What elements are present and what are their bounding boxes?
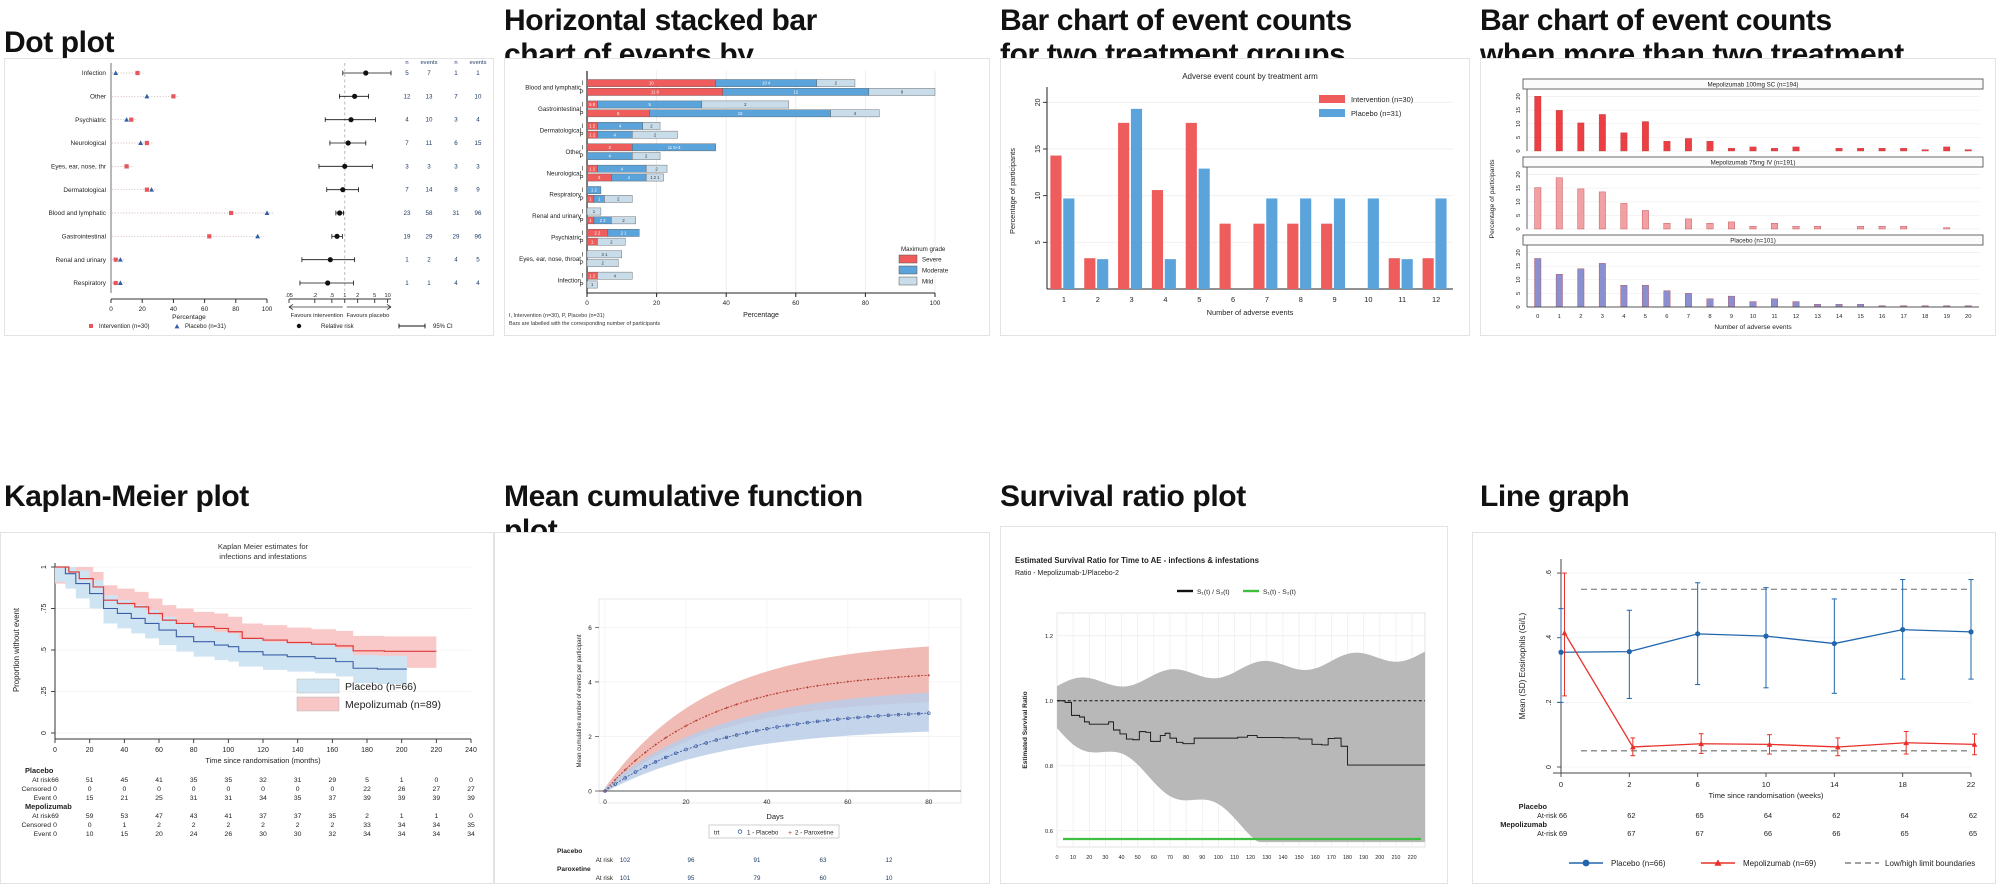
km-legend-swatch [297, 679, 339, 693]
km-risk-cell: 34 [259, 795, 267, 802]
km-risk-cell: 31 [225, 795, 233, 802]
bar3-x-tick-label: 17 [1900, 314, 1906, 320]
dot-table-cell: 4 [454, 280, 458, 287]
stacked-arm-label: I [582, 252, 584, 258]
stacked-arm-label: P [579, 176, 583, 182]
mcf-legend-prefix: trt [714, 829, 720, 836]
dot-table-cell: 12 [404, 93, 411, 100]
dot-legend-swatch-intervention [89, 324, 93, 328]
bar2-chart-title: Adverse event count by treatment arm [1182, 72, 1318, 81]
bar3-bar [1664, 291, 1670, 307]
dot-table-cell: 7 [405, 187, 409, 194]
stacked-arm-label: I [582, 167, 584, 173]
bar3-bar [1578, 123, 1584, 151]
km-x-tick-label: 40 [120, 747, 128, 754]
dot-table-cell: 3 [405, 163, 409, 170]
bar2-bar-placebo [1402, 259, 1413, 289]
km-risk-cell: 0 [261, 786, 265, 793]
stacked-bar-count-label: 1 2 [591, 188, 597, 193]
line-risk-cell: 64 [1901, 811, 1909, 820]
line-risk-cell: 64 [1764, 811, 1772, 820]
bar3-bar [1965, 150, 1971, 151]
bar3-y-tick-label: 5 [1516, 136, 1522, 139]
km-risk-cell: 30 [259, 831, 267, 838]
sr-x-tick-label: 110 [1230, 855, 1239, 861]
km-risk-cell: 39 [363, 795, 371, 802]
sr-x-tick-label: 150 [1295, 855, 1304, 861]
mcf-risk-row-label: At risk [596, 857, 614, 864]
line-risk-cell: 67 [1627, 829, 1635, 838]
dot-legend-label-placebo: Placebo (n=31) [185, 324, 226, 330]
line-y-axis-title: Mean (SD) Eosinophils (Gi/L) [1518, 612, 1527, 719]
stacked-arm-label: P [579, 283, 583, 289]
bar3-y-tick-label: 20 [1516, 171, 1522, 177]
dot-table-cell: 3 [476, 163, 480, 170]
km-risk-cell: 32 [329, 831, 337, 838]
km-risk-cell: 39 [467, 795, 475, 802]
bar2-bar-intervention [1152, 190, 1163, 289]
dot-table-cell: 29 [426, 233, 433, 240]
stacked-category-label: Gastrointestinal [538, 106, 581, 113]
bar3-y-tick-label: 15 [1516, 107, 1522, 113]
sr-legend-label-difference: S₁(t) - S₂(t) [1263, 589, 1296, 596]
sr-x-tick-label: 40 [1119, 855, 1125, 861]
line-y-tick-label: 0 [1546, 765, 1553, 769]
bar3-bar [1685, 219, 1691, 229]
bar2-bar-intervention [1389, 258, 1400, 289]
mcf-x-tick-label: 80 [925, 799, 933, 806]
line-y-tick-label: .2 [1546, 699, 1553, 705]
line-legend-marker-placebo [1583, 860, 1590, 867]
dot-table-subheader: n [454, 60, 457, 66]
bar2-bar-placebo [1300, 198, 1311, 289]
km-x-tick-label: 220 [430, 747, 442, 754]
sr-x-tick-label: 0 [1056, 855, 1059, 861]
sr-y-tick-label: 0.6 [1045, 829, 1053, 835]
line-risk-group-name: Mepolizumab [1500, 820, 1547, 829]
bar3-y-tick-label: 0 [1516, 149, 1522, 152]
bar3-y-tick-label: 20 [1516, 93, 1522, 99]
mcf-risk-cell: 79 [754, 875, 761, 882]
dot-table-cell: 1 [405, 280, 409, 287]
line-marker-mepolizumab [1562, 630, 1568, 635]
stacked-arm-label: I [582, 210, 584, 216]
dot-plot-card: InfectionOtherPsychiatricNeurologicalEye… [4, 58, 494, 336]
stacked-x-tick-label: 20 [653, 300, 661, 307]
dot-table-cell: 7 [454, 93, 458, 100]
bar3-bar [1750, 147, 1756, 151]
mcf-x-axis-title: Days [766, 812, 784, 821]
dot-table-cell: 7 [405, 140, 409, 147]
bar2-bar-placebo [1368, 198, 1379, 289]
bar3-bar [1685, 293, 1691, 307]
bar3-x-tick-label: 0 [1536, 314, 1539, 320]
km-risk-cell: 45 [121, 777, 129, 784]
mcf-y-axis-title: Mean cumulative number of events per par… [577, 634, 583, 767]
km-risk-row-label: Censored [22, 786, 52, 793]
sr-y-tick-label: 1.0 [1045, 699, 1053, 705]
stacked-legend-title: Maximum grade [901, 246, 946, 253]
sr-x-tick-label: 190 [1359, 855, 1368, 861]
km-risk-cell: 0 [88, 786, 92, 793]
dot-table-cell: 10 [475, 93, 482, 100]
bar3-y-tick-label: 5 [1516, 292, 1522, 295]
km-risk-cell: 24 [190, 831, 198, 838]
mcf-risk-cell: 91 [754, 857, 761, 864]
km-risk-cell: 43 [190, 813, 198, 820]
km-risk-cell: 41 [155, 777, 163, 784]
km-x-tick-label: 140 [292, 747, 304, 754]
km-risk-cell: 1 [122, 822, 126, 829]
stacked-bar-count-label: 5 8 [589, 102, 595, 107]
line-series-mepolizumab [1565, 633, 1975, 747]
bar3-strip-label: Placebo (n=101) [1730, 237, 1776, 244]
dot-plot-svg: InfectionOtherPsychiatricNeurologicalEye… [5, 59, 495, 337]
dot-table-cell: 3 [427, 163, 431, 170]
dot-marker-intervention [145, 188, 149, 192]
bar3-bar [1642, 122, 1648, 151]
bar3-x-tick-label: 4 [1622, 314, 1626, 320]
sr-x-tick-label: 50 [1135, 855, 1141, 861]
mcf-risk-group-name: Placebo [557, 848, 582, 855]
km-risk-group-name: Placebo [25, 766, 54, 775]
bar3-bar [1750, 226, 1756, 229]
bar3-y-tick-label: 10 [1516, 277, 1522, 283]
dot-table-cell: 9 [476, 187, 480, 194]
line-graph-svg: 0.2.4.602610141822Time since randomisati… [1473, 533, 1997, 885]
stacked-bar-count-label: 1 2 [589, 124, 595, 129]
dot-table-cell: 31 [453, 210, 460, 217]
stacked-bar-count-label: 3 1 [601, 252, 607, 257]
bar3-x-tick-label: 9 [1730, 314, 1733, 320]
bar3-y-tick-label: 10 [1516, 199, 1522, 205]
bar3-bar [1728, 148, 1734, 151]
km-x-tick-label: 80 [190, 747, 198, 754]
bar3-bar [1578, 269, 1584, 307]
bar3-bar [1621, 203, 1627, 229]
bar3-bar [1900, 226, 1906, 229]
dot-table-cell: 1 [476, 70, 480, 77]
dot-plot-x-tick-label: 40 [170, 306, 178, 313]
forest-point-estimate [363, 70, 368, 75]
bar3-bar [1814, 226, 1820, 229]
forest-point-estimate [337, 210, 342, 215]
km-x-tick-label: 100 [222, 747, 234, 754]
bar3-bar [1664, 223, 1670, 229]
stacked-bar-count-label: 1 2 1 [650, 175, 660, 180]
km-risk-cell: 10 [86, 831, 94, 838]
line-x-tick-label: 18 [1898, 780, 1906, 789]
dot-table-cell: 6 [454, 140, 458, 147]
mcf-risk-cell: 101 [620, 875, 631, 882]
km-risk-cell: 35 [225, 777, 233, 784]
stacked-x-tick-label: 40 [723, 300, 731, 307]
bar3-x-tick-label: 12 [1793, 314, 1799, 320]
bar2-bar-intervention [1321, 224, 1332, 289]
line-risk-cell: 65 [1901, 829, 1909, 838]
mcf-risk-cell: 12 [886, 857, 893, 864]
stacked-bar-count-label: 2 1 [621, 231, 627, 236]
bar2-bar-placebo [1165, 259, 1176, 289]
km-risk-cell: 2 [226, 822, 230, 829]
bar2-x-tick-label: 12 [1432, 295, 1440, 304]
forest-x-tick-label: 10 [384, 293, 390, 299]
line-marker-placebo [1558, 650, 1563, 655]
bar3-bar [1771, 223, 1777, 229]
bar2-x-axis-title: Number of adverse events [1207, 308, 1294, 317]
bar3-y-axis-title: Percentage of participants [1489, 159, 1496, 239]
bar2-bar-intervention [1186, 123, 1197, 289]
mcf-risk-cell: 10 [886, 875, 893, 882]
mcf-x-tick-label: 0 [603, 799, 607, 806]
line-x-tick-label: 22 [1967, 780, 1975, 789]
bar3-bar [1707, 141, 1713, 151]
stacked-category-label: Psychiatric [551, 235, 581, 242]
bar3-bar [1599, 192, 1605, 229]
dot-marker-placebo [149, 187, 154, 192]
stacked-bar-svg: Blood and lymphaticI1010 42P11 9128Gastr… [505, 59, 991, 337]
bar3-y-tick-label: 20 [1516, 249, 1522, 255]
bar3-bar [1621, 133, 1627, 151]
km-risk-cell: 34 [398, 822, 406, 829]
bar2-bar-placebo [1199, 169, 1210, 289]
bar2-bar-intervention [1423, 258, 1434, 289]
dot-table-cell: 3 [454, 163, 458, 170]
sr-x-tick-label: 80 [1183, 855, 1189, 861]
stacked-bar-count-label: 1 2 [589, 132, 595, 137]
stacked-bar-count-label: 2 2 [595, 231, 601, 236]
line-marker-placebo [1968, 629, 1973, 634]
dot-table-cell: 8 [454, 187, 458, 194]
km-risk-cell: 29 [329, 777, 337, 784]
km-risk-cell: 2 [330, 822, 334, 829]
bar3-strip-label: Mepolizumab 75mg IV (n=191) [1711, 159, 1796, 166]
bar2-bar-intervention [1287, 224, 1298, 289]
bar3-x-tick-label: 11 [1772, 314, 1778, 320]
survival-ratio-card: Estimated Survival Ratio for Time to AE … [1000, 526, 1448, 884]
dot-table-cell: 5 [405, 70, 409, 77]
stacked-x-tick-label: 80 [862, 300, 870, 307]
bar3-bar [1857, 226, 1863, 229]
forest-point-estimate [325, 280, 330, 285]
line-x-tick-label: 14 [1830, 780, 1838, 789]
km-risk-cell: 35 [329, 813, 337, 820]
dot-table-cell: 10 [426, 117, 433, 124]
dot-plot-category-label: Neurological [70, 140, 106, 147]
dot-table-cell: 3 [454, 117, 458, 124]
bar3-x-tick-label: 13 [1814, 314, 1820, 320]
km-risk-cell: 39 [398, 795, 406, 802]
sr-x-tick-label: 30 [1102, 855, 1108, 861]
dot-table-cell: 13 [426, 93, 433, 100]
bar2-x-tick-label: 3 [1130, 295, 1134, 304]
forest-x-tick-label: .5 [330, 293, 335, 299]
forest-point-estimate [348, 117, 353, 122]
bar2-legend-swatch [1319, 109, 1345, 117]
stacked-category-label: Neurological [547, 170, 581, 177]
stacked-footnote-2: Bars are labelled with the corresponding… [509, 321, 660, 327]
bar3-bar [1879, 148, 1885, 151]
bar3-bar [1750, 302, 1756, 307]
bar2-x-tick-label: 4 [1163, 295, 1167, 304]
km-risk-cell: 53 [121, 813, 129, 820]
stacked-arm-label: P [579, 133, 583, 139]
mcf-risk-group-name: Paroxetine [557, 866, 591, 873]
line-legend-label-limits: Low/high limit boundaries [1885, 859, 1975, 868]
km-risk-row-label: Censored [22, 822, 52, 829]
dot-marker-intervention [207, 234, 211, 238]
dot-marker-intervention [114, 281, 118, 285]
km-risk-cell: 35 [190, 777, 198, 784]
bar3-bar [1836, 148, 1842, 151]
km-x-tick-label: 240 [465, 747, 477, 754]
bar3-bar [1535, 188, 1541, 229]
sr-chart-title: Estimated Survival Ratio for Time to AE … [1015, 556, 1260, 565]
bar2-y-axis-title: Percentage of participants [1008, 148, 1017, 234]
km-y-tick-label: .5 [41, 647, 48, 653]
bar3-x-tick-label: 3 [1601, 314, 1604, 320]
bar2-bar-intervention [1253, 224, 1264, 289]
stacked-category-label: Renal and urinary [532, 213, 582, 220]
forest-point-estimate [352, 94, 357, 99]
sr-x-tick-label: 120 [1246, 855, 1255, 861]
forest-x-tick-label: 1 [343, 293, 346, 299]
stacked-arm-label: P [579, 218, 583, 224]
dot-plot-x-tick-label: 60 [201, 306, 209, 313]
dot-marker-placebo [124, 117, 129, 122]
km-x-tick-label: 160 [326, 747, 338, 754]
km-risk-cell: 0 [330, 786, 334, 793]
bar2-x-tick-label: 8 [1299, 295, 1303, 304]
km-risk-cell: 27 [433, 786, 441, 793]
km-risk-cell: 0 [192, 786, 196, 793]
km-risk-row-label: Event [34, 831, 51, 838]
sr-chart-subtitle: Ratio - Mepolizumab-1/Placebo-2 [1015, 570, 1119, 577]
stacked-x-tick-label: 0 [585, 300, 589, 307]
line-legend-label-mepolizumab: Mepolizumab (n=69) [1743, 859, 1816, 868]
km-x-tick-label: 120 [257, 747, 269, 754]
stacked-arm-label: P [579, 154, 583, 160]
forest-favours-left-label: Favours intervention [291, 313, 344, 319]
stacked-legend-swatch-moderate [899, 266, 917, 274]
km-risk-cell: 27 [467, 786, 475, 793]
mcf-y-tick-label: 6 [588, 625, 592, 632]
dot-table-cell: 4 [405, 117, 409, 124]
stacked-bar-count-label: 1 2 [589, 166, 595, 171]
dot-table-cell: 58 [426, 210, 433, 217]
km-risk-cell: 47 [155, 813, 163, 820]
km-risk-row-label: Event [34, 795, 51, 802]
dot-plot-x-tick-label: 100 [262, 306, 273, 313]
stacked-arm-label: I [582, 231, 584, 237]
line-risk-cell: 62 [1969, 811, 1977, 820]
sr-x-tick-label: 70 [1167, 855, 1173, 861]
line-x-tick-label: 10 [1762, 780, 1770, 789]
bar3-bar [1879, 226, 1885, 229]
bar3-x-tick-label: 16 [1879, 314, 1885, 320]
bar2-y-tick-label: 5 [1035, 240, 1042, 244]
line-risk-cell: 65 [1696, 811, 1704, 820]
km-y-tick-label: 1 [41, 565, 48, 569]
km-risk-cell: 5 [365, 777, 369, 784]
bar3-bar [1685, 138, 1691, 151]
stacked-arm-label: P [579, 90, 583, 96]
sr-x-tick-label: 220 [1408, 855, 1417, 861]
stacked-arm-label: I [582, 124, 584, 130]
km-risk-cell: 39 [433, 795, 441, 802]
km-risk-cell: 1 [434, 813, 438, 820]
dot-table-subheader: events [469, 60, 486, 66]
dot-table-cell: 2 [427, 257, 431, 264]
sr-x-tick-label: 60 [1151, 855, 1157, 861]
km-risk-cell: 37 [294, 813, 302, 820]
bar3-x-tick-label: 6 [1665, 314, 1668, 320]
bar3-bar [1578, 189, 1584, 229]
line-graph-card: 0.2.4.602610141822Time since randomisati… [1472, 532, 1996, 884]
bar3-bar [1943, 228, 1949, 229]
mcf-risk-cell: 96 [688, 857, 695, 864]
bar3-bar [1793, 147, 1799, 151]
bar3-y-tick-label: 15 [1516, 263, 1522, 269]
line-risk-cell: 67 [1696, 829, 1704, 838]
mcf-risk-cell: 95 [688, 875, 695, 882]
bar3-bar [1707, 223, 1713, 229]
km-risk-cell: 1 [400, 813, 404, 820]
panel-title-kaplan-meier: Kaplan-Meier plot [4, 480, 384, 514]
stacked-category-label: Infection [558, 277, 582, 284]
forest-point-estimate [346, 140, 351, 145]
stacked-footnote-1: I, Intervention (n=30), P, Placebo (n=31… [509, 313, 605, 319]
line-x-tick-label: 0 [1559, 780, 1563, 789]
line-risk-row-label: At-risk [1537, 831, 1557, 838]
stacked-arm-label: P [579, 261, 583, 267]
sr-y-tick-label: 1.2 [1045, 634, 1053, 640]
bar3-bar [1943, 147, 1949, 151]
forest-point-estimate [328, 257, 333, 262]
dot-marker-intervention [145, 141, 149, 145]
stacked-category-label: Eyes, ear, nose, throat [519, 256, 581, 263]
bar3-bar [1707, 299, 1713, 307]
km-risk-cell: 0 [53, 831, 57, 838]
stacked-arm-label: I [582, 188, 584, 194]
bar3-bar [1556, 178, 1562, 229]
km-risk-cell: 0 [157, 786, 161, 793]
bar2-bar-placebo [1131, 109, 1142, 289]
dot-plot-x-tick-label: 80 [232, 306, 240, 313]
dot-table-cell: 5 [476, 257, 480, 264]
km-x-tick-label: 60 [155, 747, 163, 754]
km-legend-swatch [297, 697, 339, 711]
dot-plot-category-label: Infection [82, 70, 107, 77]
bar2-bar-intervention [1050, 156, 1061, 289]
line-x-tick-label: 6 [1696, 780, 1700, 789]
km-risk-cell: 26 [398, 786, 406, 793]
dot-marker-placebo [113, 70, 118, 75]
km-risk-row-label: At risk [32, 777, 51, 784]
stacked-category-label: Respiratory [549, 192, 582, 199]
bar3-bar [1621, 285, 1627, 307]
dot-legend-label-intervention: Intervention (n=30) [99, 324, 150, 330]
dot-table-cell: 19 [404, 233, 411, 240]
km-risk-cell: 37 [259, 813, 267, 820]
km-y-tick-label: .75 [41, 604, 48, 614]
stacked-arm-label: I [582, 274, 584, 280]
km-chart-title-line1: Kaplan Meier estimates for [218, 542, 309, 551]
bar3-bar [1771, 148, 1777, 151]
km-x-tick-label: 180 [361, 747, 373, 754]
km-risk-group-name: Mepolizumab [25, 802, 72, 811]
sr-x-tick-label: 10 [1070, 855, 1076, 861]
